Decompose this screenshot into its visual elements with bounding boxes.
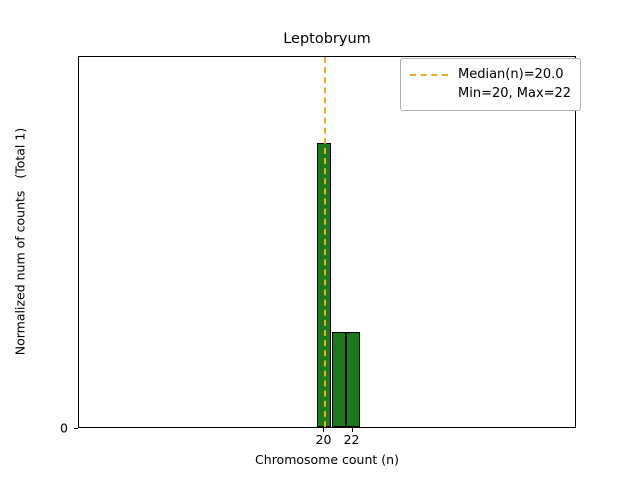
x-tick-label: 22 bbox=[344, 432, 360, 447]
y-tick-label: 0 bbox=[38, 421, 68, 436]
dashed-line-icon bbox=[410, 74, 448, 76]
x-axis-label: Chromosome count (n) bbox=[78, 452, 576, 467]
legend-entry: Min=20, Max=22 bbox=[410, 84, 571, 103]
chart-title: Leptobryum bbox=[78, 30, 576, 48]
y-axis-label-wrapper: Normalized num of counts (Total 1) bbox=[0, 0, 40, 480]
legend: Median(n)=20.0Min=20, Max=22 bbox=[400, 58, 581, 111]
chart-figure: Leptobryum 20220 Chromosome count (n) No… bbox=[0, 0, 640, 480]
median-line bbox=[324, 57, 326, 427]
legend-label: Min=20, Max=22 bbox=[458, 86, 571, 101]
x-tick-label: 20 bbox=[316, 432, 332, 447]
legend-entry: Median(n)=20.0 bbox=[410, 65, 571, 84]
plot-area bbox=[78, 56, 576, 428]
y-tick-mark bbox=[74, 428, 78, 429]
y-axis-label: Normalized num of counts (Total 1) bbox=[13, 32, 28, 452]
median-line-layer bbox=[79, 57, 575, 427]
legend-label: Median(n)=20.0 bbox=[458, 67, 564, 82]
